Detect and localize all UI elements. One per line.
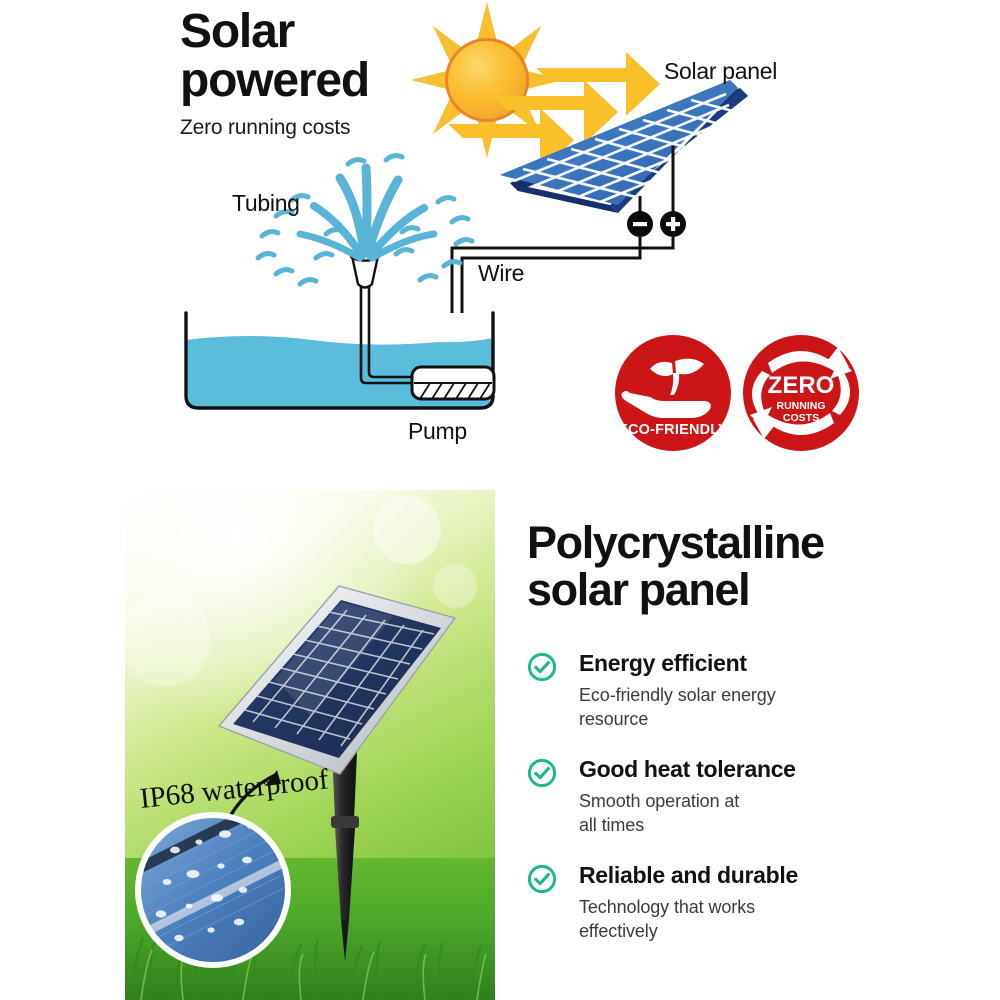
product-infographic: Solar powered Zero running costs [0, 0, 1000, 1000]
feature-list: Energy efficient Eco-friendly solar ener… [527, 650, 947, 944]
feature-title: Reliable and durable [579, 862, 947, 890]
feature-description: Smooth operation at all times [579, 790, 947, 838]
badge-eco-friendly: ECO-FRIENDLY [615, 335, 731, 451]
check-circle-icon [527, 758, 557, 788]
feature-item: Good heat tolerance Smooth operation at … [527, 756, 947, 838]
bottom-title-line-1: Polycrystalline [527, 520, 947, 567]
feature-item: Reliable and durable Technology that wor… [527, 862, 947, 944]
badge-zero-label: ZERO [768, 372, 835, 399]
product-photo: IP68 waterproof [125, 490, 495, 1000]
badge-zero-running-costs: ZERO RUNNING COSTS [743, 335, 859, 451]
feature-description: Eco-friendly solar energy resource [579, 684, 947, 732]
pump-graphic [412, 367, 494, 402]
label-wire: Wire [478, 260, 524, 287]
label-tubing: Tubing [232, 190, 300, 217]
feature-title: Good heat tolerance [579, 756, 947, 784]
check-circle-icon [527, 652, 557, 682]
label-pump: Pump [408, 418, 467, 445]
polycrystalline-panel-section: IP68 waterproof Polycrystalline solar pa… [0, 490, 1000, 1000]
badge-eco-friendly-label: ECO-FRIENDLY [618, 422, 728, 438]
badge-costs-label: COSTS [783, 412, 819, 424]
badge-group: ECO-FRIENDLY ZERO [612, 331, 862, 455]
check-circle-icon [527, 864, 557, 894]
label-solar-panel: Solar panel [664, 58, 777, 85]
feature-item: Energy efficient Eco-friendly solar ener… [527, 650, 947, 732]
bottom-title-line-2: solar panel [527, 567, 947, 614]
feature-description: Technology that works effectively [579, 896, 947, 944]
solar-powered-section: Solar powered Zero running costs [0, 0, 1000, 480]
solar-panel-in-grass-photo: IP68 waterproof [125, 490, 495, 1000]
water-spray [300, 168, 434, 258]
feature-title: Energy efficient [579, 650, 947, 678]
feature-copy-block: Polycrystalline solar panel Energy effic… [527, 520, 947, 968]
badge-running-label: RUNNING [777, 400, 826, 412]
